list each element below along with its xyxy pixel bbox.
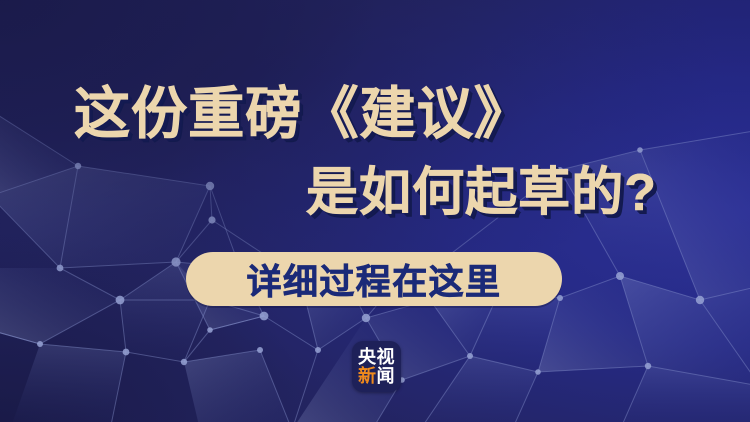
logo-text-wen: 闻 bbox=[377, 367, 396, 385]
logo-text-xin: 新 bbox=[358, 367, 377, 385]
logo-text-yangshi: 央视 bbox=[358, 348, 395, 366]
headline-line-1: 这份重磅《建议》 bbox=[74, 84, 750, 144]
logo-line-1: 央视 bbox=[358, 348, 395, 366]
poster-canvas: 这份重磅《建议》 是如何起草的? 详细过程在这里 央视 新 闻 bbox=[0, 0, 750, 422]
logo-line-2: 新 闻 bbox=[358, 367, 395, 385]
subtitle-pill-label: 详细过程在这里 bbox=[247, 254, 502, 305]
poster-content: 这份重磅《建议》 是如何起草的? 详细过程在这里 央视 新 闻 bbox=[0, 0, 750, 422]
cctv-news-logo[interactable]: 央视 新 闻 bbox=[352, 341, 401, 392]
subtitle-pill[interactable]: 详细过程在这里 bbox=[186, 252, 562, 306]
headline-line-2: 是如何起草的? bbox=[306, 165, 750, 221]
